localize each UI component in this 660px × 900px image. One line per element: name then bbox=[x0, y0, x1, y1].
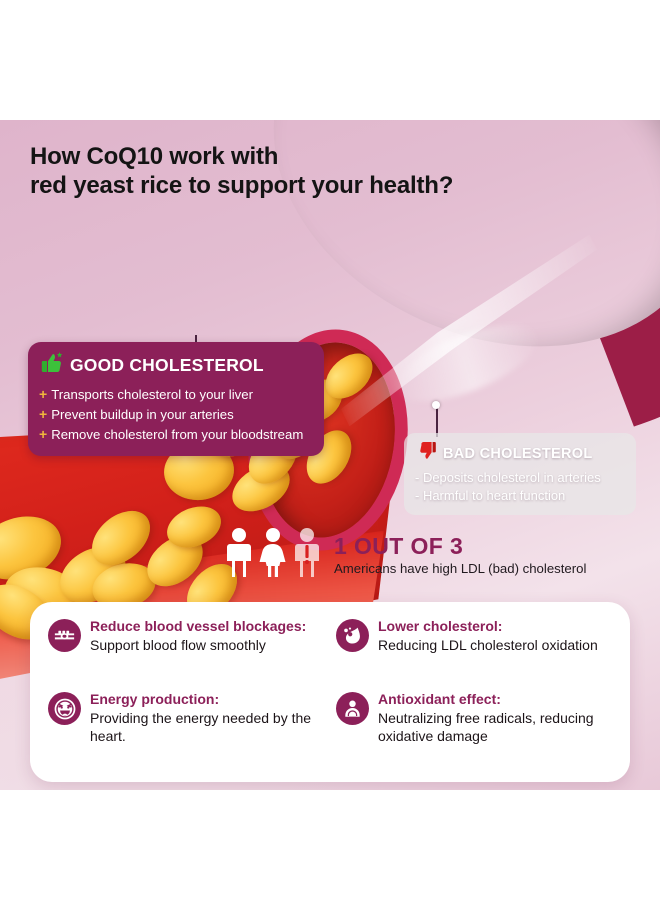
good-cholesterol-panel: GOOD CHOLESTEROL + Transports cholestero… bbox=[28, 342, 324, 456]
benefit-title: Antioxidant effect: bbox=[378, 691, 614, 708]
bad-cholesterol-panel: BAD CHOLESTEROL - Deposits cholesterol i… bbox=[404, 433, 636, 515]
infographic-canvas: How CoQ10 work with red yeast rice to su… bbox=[0, 120, 660, 790]
benefit-item: Antioxidant effect: Neutralizing free ra… bbox=[336, 691, 614, 768]
leader-dot-bad bbox=[432, 401, 440, 409]
bad-cholesterol-item: - Harmful to heart function bbox=[415, 487, 625, 505]
benefit-item: Reduce blood vessel blockages: Support b… bbox=[48, 618, 326, 677]
benefit-description: Support blood flow smoothly bbox=[90, 637, 306, 655]
statistic-description: Americans have high LDL (bad) cholestero… bbox=[334, 561, 586, 578]
benefit-text: Antioxidant effect: Neutralizing free ra… bbox=[378, 691, 614, 745]
bad-cholesterol-list: - Deposits cholesterol in arteries - Har… bbox=[415, 469, 625, 505]
good-cholesterol-item: + Transports cholesterol to your liver bbox=[39, 385, 312, 405]
statistic-section: 1 OUT OF 3 Americans have high LDL (bad)… bbox=[224, 527, 586, 582]
page-title: How CoQ10 work with red yeast rice to su… bbox=[30, 142, 453, 201]
benefit-text: Lower cholesterol: Reducing LDL choleste… bbox=[378, 618, 598, 654]
good-cholesterol-title: GOOD CHOLESTEROL bbox=[70, 357, 264, 375]
plus-bullet-icon: + bbox=[39, 425, 47, 445]
person-icon-affected bbox=[292, 527, 322, 582]
good-cholesterol-item-text: Remove cholesterol from your bloodstream bbox=[51, 426, 303, 445]
benefit-title: Reduce blood vessel blockages: bbox=[90, 618, 306, 635]
bad-cholesterol-header: BAD CHOLESTEROL bbox=[415, 441, 625, 466]
benefits-card: Reduce blood vessel blockages: Support b… bbox=[30, 602, 630, 782]
benefit-description: Reducing LDL cholesterol oxidation bbox=[378, 637, 598, 655]
person-icon-female bbox=[258, 527, 288, 582]
statistic-text: 1 OUT OF 3 Americans have high LDL (bad)… bbox=[334, 527, 586, 578]
benefit-text: Energy production: Providing the energy … bbox=[90, 691, 326, 745]
energy-smiley-icon bbox=[48, 692, 81, 725]
thumbs-up-icon bbox=[39, 351, 65, 380]
benefit-item: Lower cholesterol: Reducing LDL choleste… bbox=[336, 618, 614, 677]
headline-line-2: red yeast rice to support your health? bbox=[30, 171, 453, 200]
cell-droplet-icon bbox=[336, 619, 369, 652]
good-cholesterol-list: + Transports cholesterol to your liver +… bbox=[39, 385, 312, 445]
benefit-description: Providing the energy needed by the heart… bbox=[90, 710, 326, 745]
blood-vessel-icon bbox=[48, 619, 81, 652]
benefit-title: Lower cholesterol: bbox=[378, 618, 598, 635]
people-pictogram bbox=[224, 527, 322, 582]
statistic-headline: 1 OUT OF 3 bbox=[334, 534, 586, 558]
good-cholesterol-item-text: Transports cholesterol to your liver bbox=[51, 386, 253, 405]
good-cholesterol-header: GOOD CHOLESTEROL bbox=[39, 351, 312, 380]
bad-cholesterol-item: - Deposits cholesterol in arteries bbox=[415, 469, 625, 487]
good-cholesterol-item-text: Prevent buildup in your arteries bbox=[51, 406, 234, 425]
plus-bullet-icon: + bbox=[39, 385, 47, 405]
plus-bullet-icon: + bbox=[39, 405, 47, 425]
good-cholesterol-item: + Remove cholesterol from your bloodstre… bbox=[39, 425, 312, 445]
good-cholesterol-item: + Prevent buildup in your arteries bbox=[39, 405, 312, 425]
person-icon-male bbox=[224, 527, 254, 582]
benefit-description: Neutralizing free radicals, reducing oxi… bbox=[378, 710, 614, 745]
headline-line-1: How CoQ10 work with bbox=[30, 142, 453, 171]
bad-cholesterol-title: BAD CHOLESTEROL bbox=[443, 446, 593, 462]
shielded-person-icon bbox=[336, 692, 369, 725]
thumbs-down-icon bbox=[415, 441, 437, 466]
benefit-item: Energy production: Providing the energy … bbox=[48, 691, 326, 768]
benefit-title: Energy production: bbox=[90, 691, 326, 708]
benefit-text: Reduce blood vessel blockages: Support b… bbox=[90, 618, 306, 654]
